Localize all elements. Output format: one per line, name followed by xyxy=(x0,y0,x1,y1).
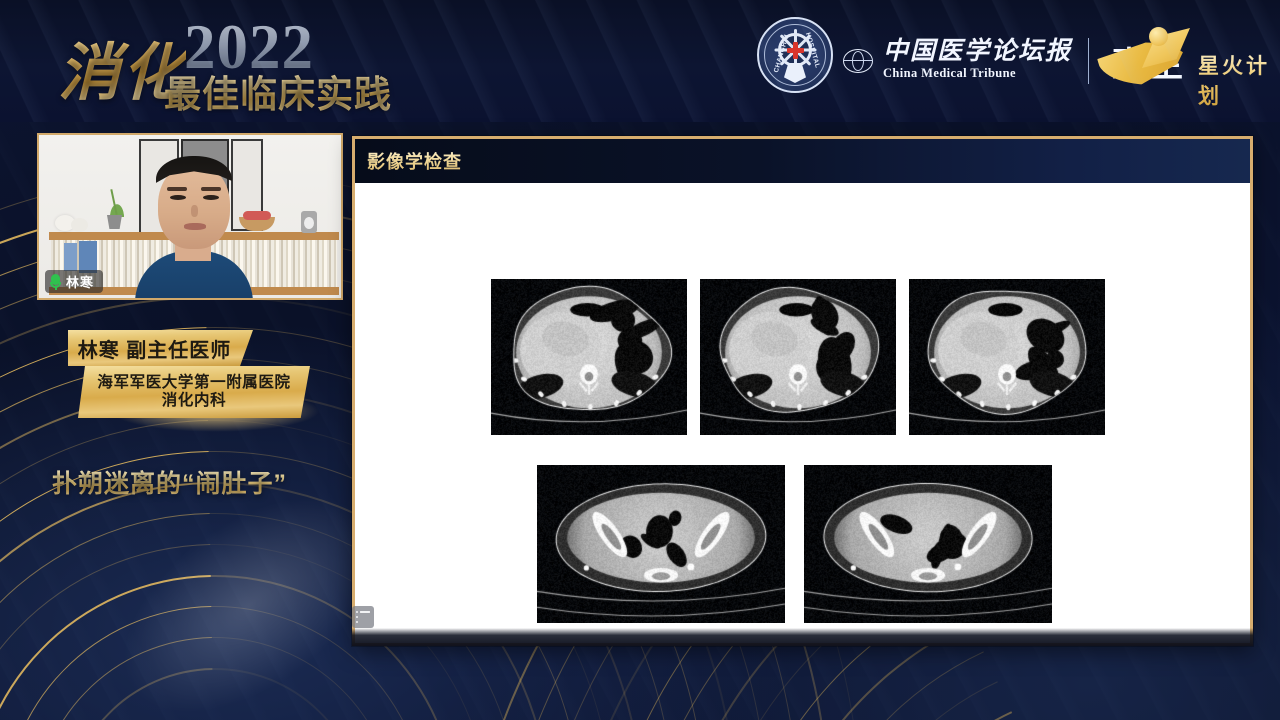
speaker-affiliation-line1: 海军军医大学第一附属医院 xyxy=(97,374,290,392)
webinar-stage: 2022 消化 最佳临床实践 CHANGHAI HOSPITAL xyxy=(0,0,1280,720)
event-logo: 2022 消化 最佳临床实践 xyxy=(46,8,426,112)
partner-name-en: China Medical Tribune xyxy=(883,64,1072,83)
participant-badge: 林寒 xyxy=(45,270,103,293)
ct-image-row-pelvis xyxy=(537,465,1052,623)
slide-title-bar: 影像学检查 xyxy=(355,139,1250,183)
partner-brand: 壹生 xyxy=(1112,37,1186,86)
ct-abdomen-upper-3 xyxy=(909,279,1105,435)
talk-title: 扑朔迷离的“闹肚子” xyxy=(52,464,342,500)
spark-program-logo: 星火计划 xyxy=(1098,22,1270,98)
speaker-affiliation-line2: 消化内科 xyxy=(162,392,226,410)
event-year: 2022 xyxy=(184,11,314,84)
event-subtitle-cn: 最佳临床实践 xyxy=(164,64,392,118)
emblem-arc-right: HOSPITAL xyxy=(804,32,821,69)
ct-pelvis-2 xyxy=(804,465,1052,623)
partner-name-cn: 中国医学论坛报 xyxy=(883,39,1072,64)
ct-pelvis-1 xyxy=(537,465,785,623)
speaker-name-banner: 林寒 副主任医师 xyxy=(68,330,253,366)
globe-icon xyxy=(843,49,873,73)
event-title-cn: 消化 xyxy=(58,22,186,112)
emblem-arc-left: CHANGHAI xyxy=(773,34,791,74)
ct-abdomen-upper-2 xyxy=(700,279,896,435)
slide-title: 影像学检查 xyxy=(367,148,462,174)
ct-abdomen-upper-1 xyxy=(491,279,687,435)
speaker-video-tile[interactable]: 林寒 xyxy=(37,133,343,300)
changhai-hospital-emblem-icon: CHANGHAI HOSPITAL xyxy=(757,17,833,93)
participant-name: 林寒 xyxy=(66,272,94,291)
ct-image-row-upper xyxy=(491,279,1105,435)
presentation-slide[interactable]: 影像学检查 xyxy=(352,136,1253,646)
list-menu-icon[interactable] xyxy=(352,606,374,628)
spark-bird-icon xyxy=(1098,26,1194,88)
logo-divider xyxy=(1088,38,1089,84)
speaker-name-title: 林寒 副主任医师 xyxy=(78,334,232,363)
slide-content xyxy=(355,183,1250,643)
speaker-affiliation-banner: 海军军医大学第一附属医院 消化内科 xyxy=(78,366,310,418)
header-band: 2022 消化 最佳临床实践 CHANGHAI HOSPITAL xyxy=(0,0,1280,122)
spark-program-label: 星火计划 xyxy=(1198,50,1270,110)
microphone-icon xyxy=(50,274,61,290)
china-medical-tribune-logo: 中国医学论坛报 China Medical Tribune 壹生 xyxy=(843,33,1186,89)
